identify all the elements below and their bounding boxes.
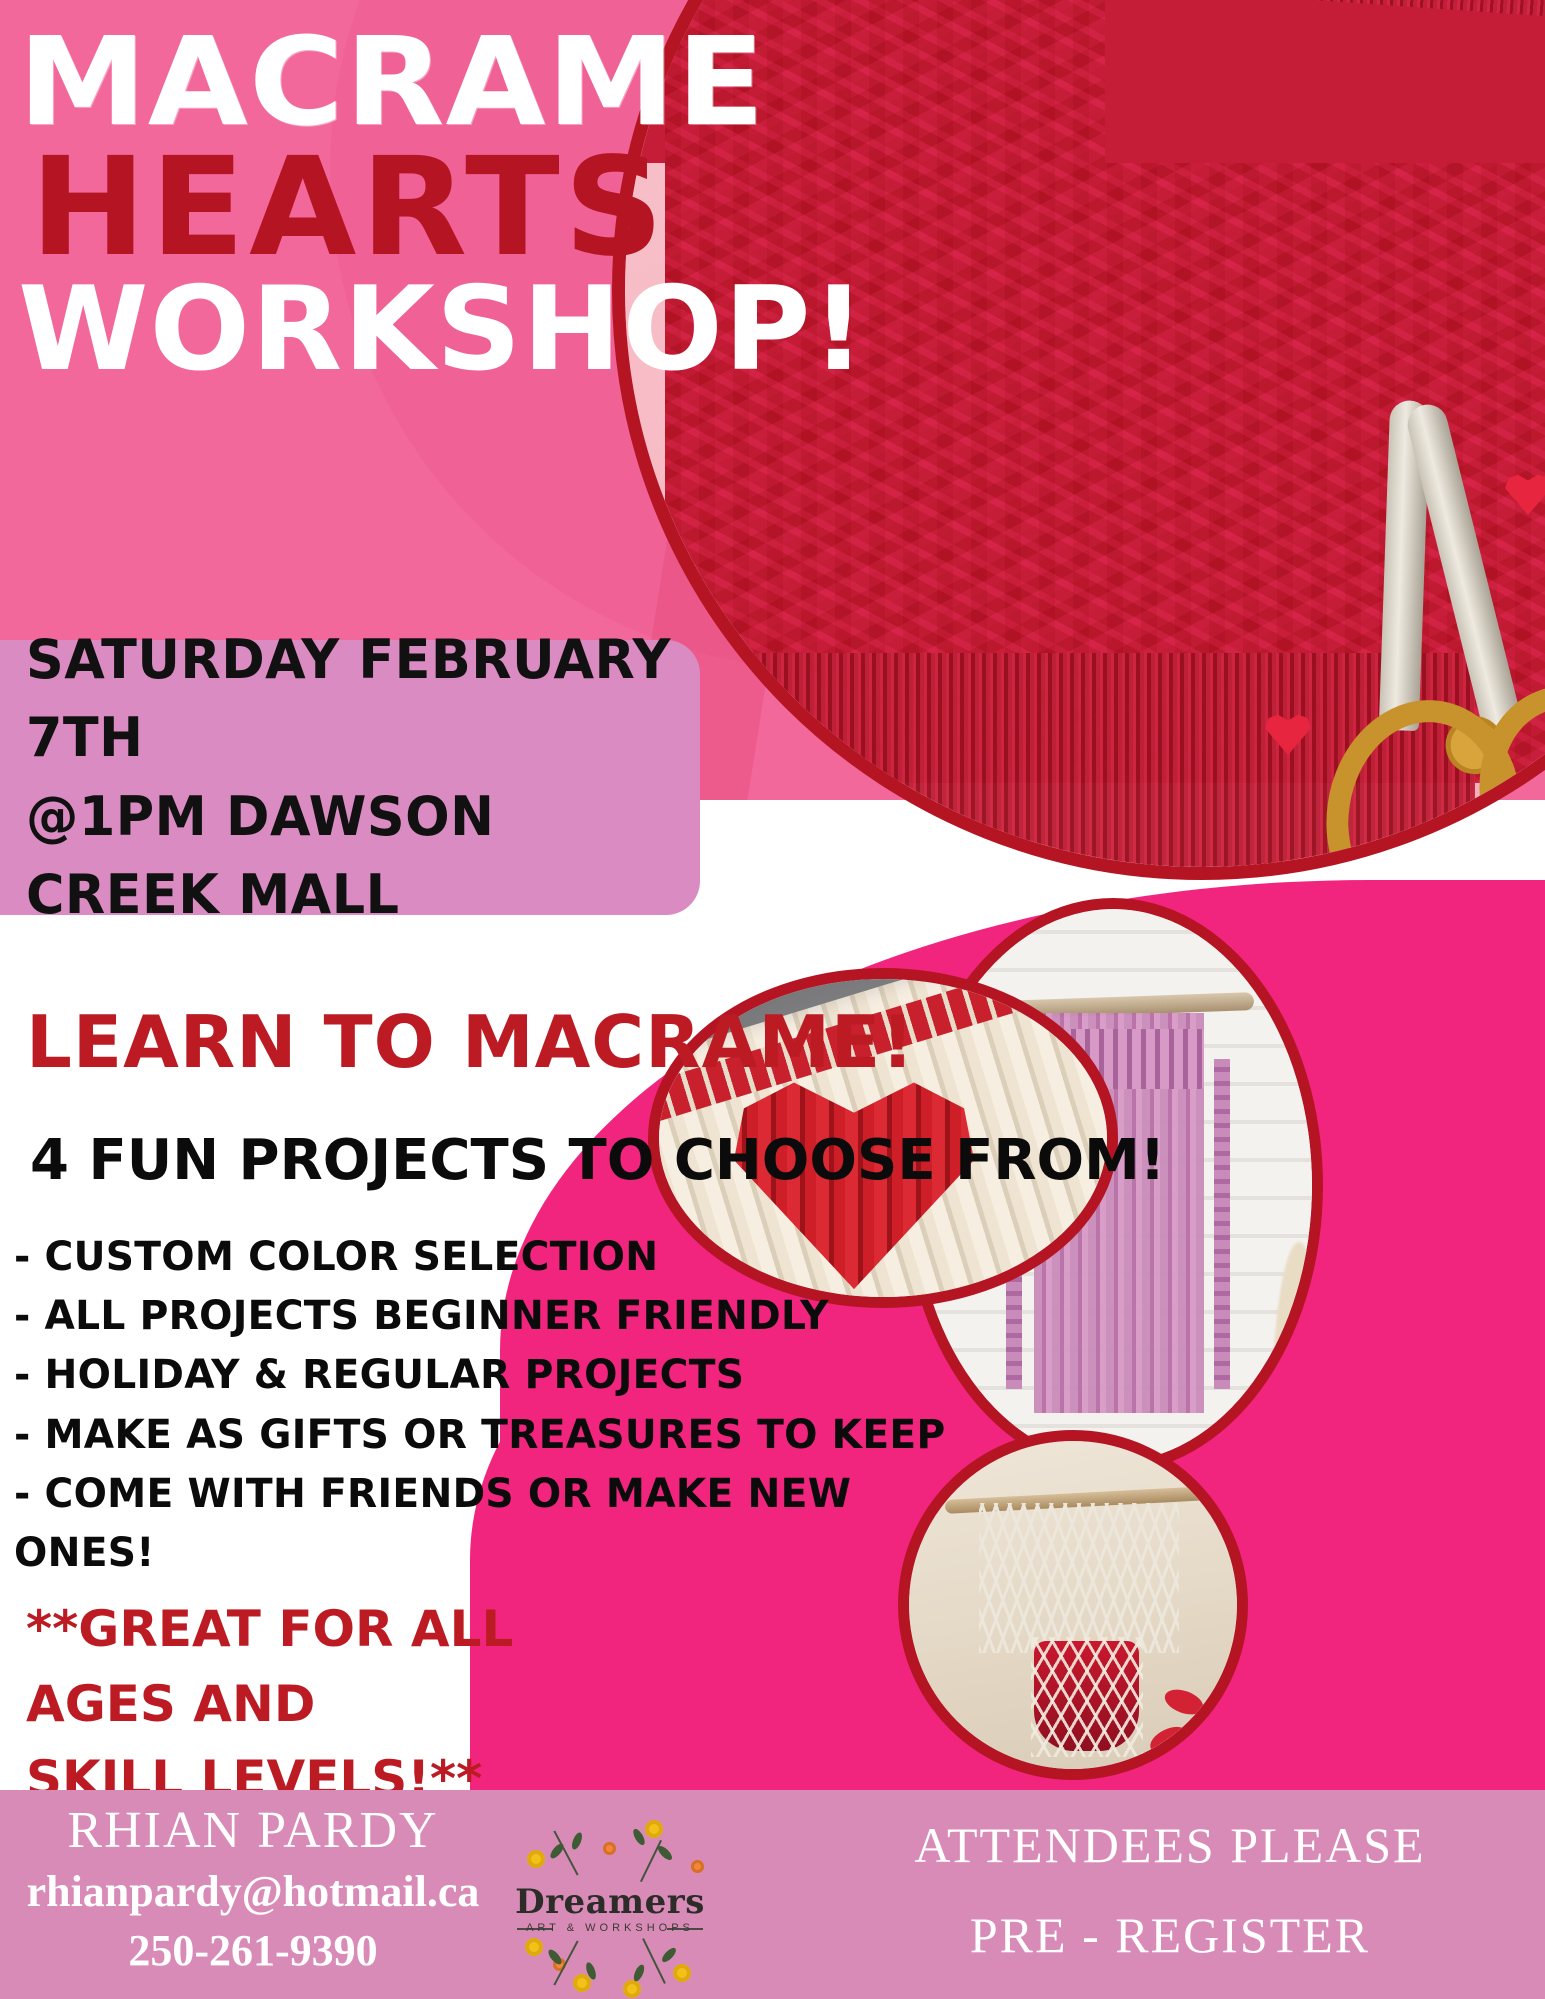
poster-title: MACRAME HEARTS WORKSHOP! [0, 0, 778, 384]
flower-icon [691, 1860, 704, 1873]
title-line-hearts: HEARTS [30, 145, 793, 271]
list-item: - ALL PROJECTS BEGINNER FRIENDLY [14, 1287, 690, 1346]
list-item: - HOLIDAY & REGULAR PROJECTS [14, 1346, 690, 1405]
location-line: @1PM DAWSON CREEK MALL [26, 778, 680, 935]
list-item-wrap: ONES! [14, 1524, 690, 1583]
cta-line-1: ATTENDEES PLEASE [860, 1812, 1480, 1880]
photo-macrame-plant-hanger [898, 1430, 1248, 1780]
date-line: SATURDAY FEBRUARY 7TH [26, 621, 680, 778]
date-location-box: SATURDAY FEBRUARY 7TH @1PM DAWSON CREEK … [0, 640, 700, 915]
flower-icon [645, 1820, 663, 1838]
cta-block: ATTENDEES PLEASE PRE - REGISTER [860, 1812, 1480, 1969]
cta-line-2: PRE - REGISTER [860, 1902, 1480, 1970]
list-item: - COME WITH FRIENDS OR MAKE NEW [14, 1465, 690, 1524]
leaf-icon [632, 1963, 647, 1983]
flower-icon [603, 1842, 616, 1855]
title-line-macrame: MACRAME [18, 26, 824, 139]
leaf-icon [656, 1844, 674, 1862]
dreamers-logo: Dreamers ART & WORKSHOPS [495, 1798, 725, 1998]
contact-name: RHIAN PARDY [18, 1800, 488, 1862]
leaf-icon [570, 1831, 584, 1851]
note-line-1: **GREAT FOR ALL AGES AND [26, 1592, 666, 1742]
headline-learn-to-macrame: LEARN TO MACRAME! [26, 1000, 915, 1084]
flower-icon [527, 1850, 545, 1868]
list-item: - CUSTOM COLOR SELECTION [14, 1228, 690, 1287]
poster-root: MACRAME HEARTS WORKSHOP! SATURDAY FEBRUA… [0, 0, 1545, 1999]
contact-block: RHIAN PARDY rhianpardy@hotmail.ca 250-26… [18, 1800, 488, 1979]
benefits-list: - CUSTOM COLOR SELECTION - ALL PROJECTS … [14, 1228, 704, 1583]
logo-name: Dreamers [495, 1882, 725, 1922]
title-line-workshop: WORKSHOP! [18, 276, 793, 384]
contact-phone[interactable]: 250-261-9390 [18, 1922, 488, 1979]
contact-email[interactable]: rhianpardy@hotmail.ca [18, 1862, 488, 1921]
note-all-ages: **GREAT FOR ALL AGES AND SKILL LEVELS!** [26, 1592, 666, 1817]
flower-icon [623, 1980, 641, 1998]
flower-icon [573, 1974, 591, 1992]
list-item: - MAKE AS GIFTS OR TREASURES TO KEEP [14, 1406, 690, 1465]
logo-tagline: ART & WORKSHOPS [495, 1922, 725, 1934]
subheadline-projects: 4 FUN PROJECTS TO CHOOSE FROM! [30, 1128, 1165, 1193]
footer-band: RHIAN PARDY rhianpardy@hotmail.ca 250-26… [0, 1790, 1545, 1999]
flower-icon [525, 1938, 543, 1956]
leaf-icon [660, 1946, 678, 1965]
flower-icon [673, 1964, 691, 1982]
